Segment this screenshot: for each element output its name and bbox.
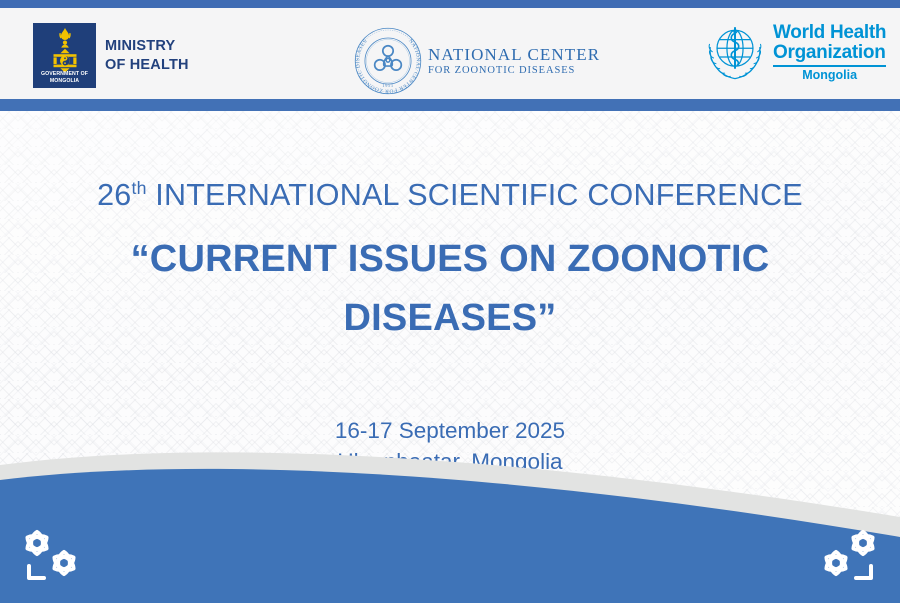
event-date: 16-17 September 2025	[0, 415, 900, 446]
theme-line-1: “CURRENT ISSUES ON ZOONOTIC	[0, 230, 900, 289]
ncz-wordmark: NATIONAL CENTER FOR ZOONOTIC DISEASES	[428, 46, 600, 77]
emblem-caption-line1: GOVERNMENT OF	[41, 71, 88, 77]
bottom-wave-decoration	[0, 443, 900, 603]
soyombo-symbol-icon	[48, 27, 82, 75]
conference-title-slide: GOVERNMENT OF MONGOLIA MINISTRY OF HEALT…	[0, 0, 900, 603]
who-divider	[773, 65, 886, 67]
moh-name-line2: OF HEALTH	[105, 56, 189, 75]
mongolian-knot-ornament-left	[16, 523, 92, 589]
emblem-caption: GOVERNMENT OF MONGOLIA	[33, 71, 96, 85]
moh-name-line1: MINISTRY	[105, 37, 189, 56]
edition-number: 26	[97, 178, 131, 212]
who-emblem-icon	[704, 21, 766, 83]
wave-blue-band	[0, 469, 900, 603]
edition-ordinal-suffix: th	[131, 178, 146, 198]
svg-text:1951: 1951	[382, 83, 394, 88]
ncz-name-line2: FOR ZOONOTIC DISEASES	[428, 65, 600, 76]
header-separator-bar	[0, 99, 900, 111]
national-center-zoonotic-diseases-logo: NATIONAL CENTER FOR ZOONOTIC DISEASES 19…	[352, 25, 600, 97]
zoonotic-seal-icon: NATIONAL CENTER FOR ZOONOTIC DISEASES 19…	[352, 25, 424, 97]
who-logo: World Health Organization Mongolia	[704, 21, 886, 83]
conference-name: INTERNATIONAL SCIENTIFIC CONFERENCE	[147, 178, 803, 212]
ministry-of-health-logo: GOVERNMENT OF MONGOLIA MINISTRY OF HEALT…	[33, 23, 189, 88]
who-wordmark: World Health Organization Mongolia	[773, 23, 886, 81]
emblem-caption-line2: MONGOLIA	[50, 78, 79, 84]
conference-theme-title: “CURRENT ISSUES ON ZOONOTIC DISEASES”	[0, 230, 900, 348]
ncz-name-line1: NATIONAL CENTER	[428, 46, 600, 64]
theme-line-2: DISEASES”	[0, 289, 900, 348]
who-name-line2: Organization	[773, 43, 886, 62]
conference-edition-line: 26th INTERNATIONAL SCIENTIFIC CONFERENCE	[0, 178, 900, 213]
ministry-of-health-wordmark: MINISTRY OF HEALTH	[105, 37, 189, 75]
who-country-label: Mongolia	[773, 69, 886, 82]
mongolia-state-emblem-icon: GOVERNMENT OF MONGOLIA	[33, 23, 96, 88]
top-accent-bar	[0, 0, 900, 8]
mongolian-knot-ornament-right	[808, 523, 884, 589]
who-name-line1: World Health	[773, 23, 886, 42]
